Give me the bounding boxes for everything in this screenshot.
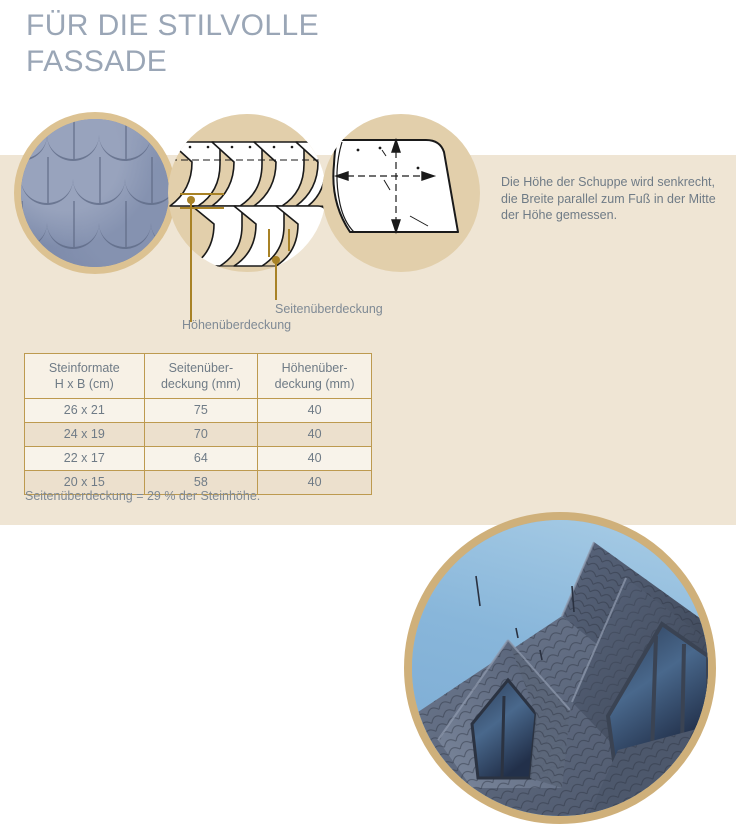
leader-line-hoehen-vertical <box>190 200 192 322</box>
page-root: FÜR DIE STILVOLLE FASSADE <box>0 0 736 824</box>
single-scale-drawing <box>322 114 480 272</box>
cell-hoehe: 40 <box>258 399 372 423</box>
slate-scale-facade-photo <box>14 112 176 274</box>
cell-seite: 64 <box>144 447 258 471</box>
column-header-steinformate-line2: H x B (cm) <box>29 376 140 392</box>
measurement-description-text: Die Höhe der Schuppe wird senkrecht, die… <box>501 174 723 224</box>
column-header-hoehenueberdeckung: Höhenüber- deckung (mm) <box>258 354 372 399</box>
cell-hoehe: 40 <box>258 423 372 447</box>
page-title-line1: FÜR DIE STILVOLLE <box>26 9 319 42</box>
table-row: 24 x 19 70 40 <box>25 423 372 447</box>
page-title: FÜR DIE STILVOLLE FASSADE <box>26 8 546 80</box>
column-header-steinformate-line1: Steinformate <box>29 360 140 376</box>
column-header-steinformate: Steinformate H x B (cm) <box>25 354 145 399</box>
cell-seite: 70 <box>144 423 258 447</box>
table-footnote: Seitenüberdeckung = 29 % der Steinhöhe. <box>25 489 260 503</box>
leader-line-seiten-vertical <box>275 260 277 300</box>
stone-formats-table: Steinformate H x B (cm) Seitenüber- deck… <box>24 353 372 495</box>
callout-label-hoehenueberdeckung: Höhenüberdeckung <box>182 318 291 332</box>
slate-roof-dormers-photo <box>404 512 716 824</box>
callout-label-seitenueberdeckung: Seitenüberdeckung <box>275 302 383 316</box>
cell-seite: 75 <box>144 399 258 423</box>
cell-format: 24 x 19 <box>25 423 145 447</box>
column-header-seitenueberdeckung: Seitenüber- deckung (mm) <box>144 354 258 399</box>
cell-hoehe: 40 <box>258 447 372 471</box>
scale-pattern-overlay <box>14 112 176 274</box>
column-header-hoehen-line1: Höhenüber- <box>262 360 367 376</box>
table-row: 22 x 17 64 40 <box>25 447 372 471</box>
cell-hoehe: 40 <box>258 471 372 495</box>
leader-line-seiten-vertical-a <box>268 229 270 257</box>
column-header-seiten-line1: Seitenüber- <box>149 360 254 376</box>
leader-line-hoehen-horizontal <box>180 193 224 195</box>
cell-format: 26 x 21 <box>25 399 145 423</box>
table-row: 26 x 21 75 40 <box>25 399 372 423</box>
leader-line-hoehen-horizontal-2 <box>180 207 224 209</box>
page-title-line2: FASSADE <box>26 44 546 80</box>
table-body: 26 x 21 75 40 24 x 19 70 40 22 x 17 64 4… <box>25 399 372 495</box>
roof-illustration <box>412 520 708 816</box>
single-scale-dimensions-diagram <box>322 114 480 272</box>
table-header: Steinformate H x B (cm) Seitenüber- deck… <box>25 354 372 399</box>
column-header-seiten-line2: deckung (mm) <box>149 376 254 392</box>
leader-line-seiten-vertical-b <box>288 229 290 251</box>
column-header-hoehen-line2: deckung (mm) <box>262 376 367 392</box>
cell-format: 22 x 17 <box>25 447 145 471</box>
table-header-row: Steinformate H x B (cm) Seitenüber- deck… <box>25 354 372 399</box>
